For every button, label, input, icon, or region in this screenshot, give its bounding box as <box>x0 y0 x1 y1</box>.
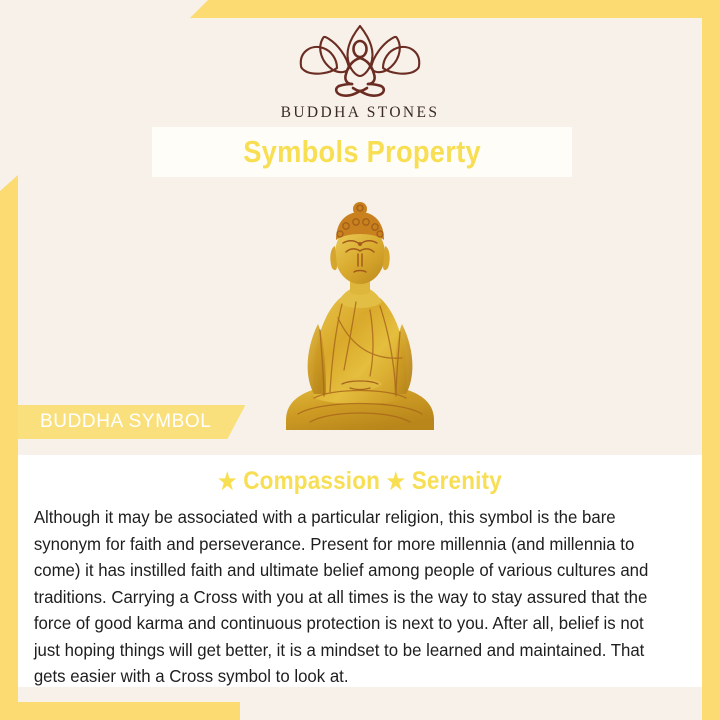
decorative-top-band <box>190 0 720 18</box>
title-band: Symbols Property <box>152 127 572 177</box>
headline-word-serenity: Serenity <box>412 467 502 495</box>
decorative-bottom-band <box>0 702 240 720</box>
section-ribbon: BUDDHA SYMBOL <box>18 405 245 439</box>
content-card: ★ Compassion ★ Serenity Although it may … <box>18 455 702 687</box>
brand-header: BUDDHA STONES <box>0 22 720 122</box>
lotus-meditation-icon <box>285 22 435 100</box>
poster-root: BUDDHA STONES Symbols Property <box>0 0 720 720</box>
decorative-left-band <box>0 175 18 720</box>
star-icon-1: ★ <box>218 468 237 495</box>
hero-image-area <box>18 178 702 438</box>
ribbon-label: BUDDHA SYMBOL <box>40 411 211 433</box>
card-headline: ★ Compassion ★ Serenity <box>63 467 657 496</box>
star-icon-2: ★ <box>387 468 406 495</box>
brand-name: BUDDHA STONES <box>0 104 720 122</box>
card-body-text: Although it may be associated with a par… <box>30 504 660 690</box>
seated-golden-buddha-statue-icon <box>270 198 450 438</box>
headline-word-compassion: Compassion <box>243 467 380 495</box>
page-title: Symbols Property <box>243 134 481 170</box>
